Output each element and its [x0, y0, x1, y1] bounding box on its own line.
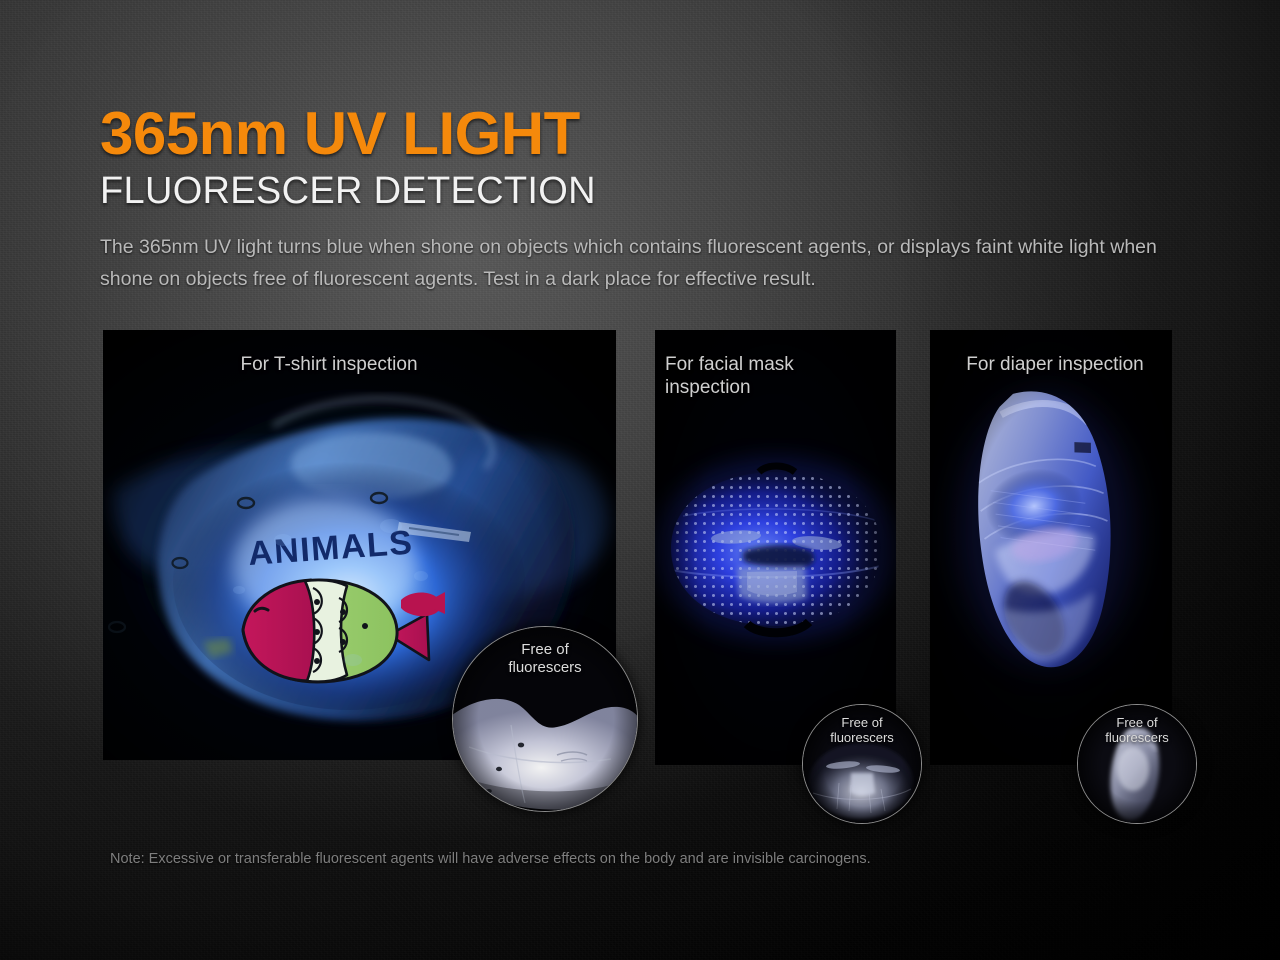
description-text: The 365nm UV light turns blue when shone…	[100, 232, 1170, 295]
inset-facial-mask-photo	[803, 705, 922, 824]
diaper-photo	[930, 330, 1172, 765]
page-title: 365nm UV LIGHT	[100, 104, 596, 164]
caption-diaper: For diaper inspection	[940, 354, 1170, 377]
header: 365nm UV LIGHT FLUORESCER DETECTION	[100, 104, 596, 210]
inset-tshirt-photo	[453, 627, 638, 812]
caption-facial-mask-line2: inspection	[665, 377, 865, 400]
caption-facial-mask-line1: For facial mask	[665, 354, 865, 377]
footer-note: Note: Excessive or transferable fluoresc…	[110, 851, 871, 867]
inset-diaper-photo	[1078, 705, 1197, 824]
caption-tshirt: For T-shirt inspection	[159, 354, 499, 377]
slide-root: 365nm UV LIGHT FLUORESCER DETECTION The …	[0, 0, 1280, 960]
page-subtitle: FLUORESCER DETECTION	[100, 172, 596, 210]
inset-diaper-free-of-fluorescers[interactable]: Free of fluorescers	[1077, 704, 1197, 824]
inset-facial-mask-free-of-fluorescers[interactable]: Free of fluorescers	[802, 704, 922, 824]
caption-facial-mask: For facial mask inspection	[665, 354, 865, 400]
inset-tshirt-free-of-fluorescers[interactable]: Free of fluorescers	[452, 626, 638, 812]
panel-diaper[interactable]	[930, 330, 1172, 765]
